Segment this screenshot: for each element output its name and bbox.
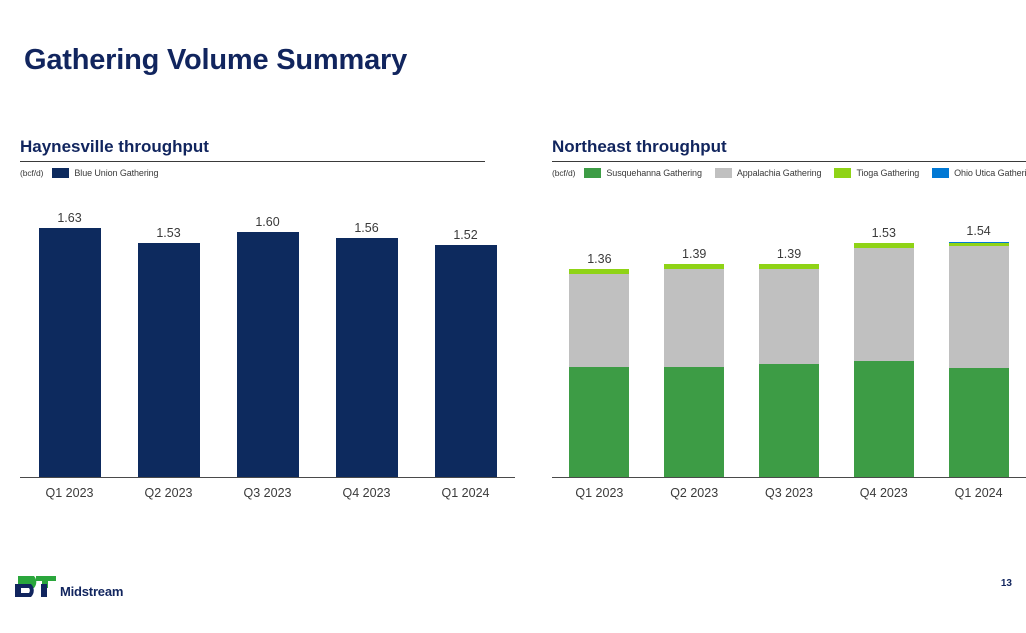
bar-segment[interactable] [854, 361, 914, 477]
x-axis-tick-label: Q3 2023 [218, 481, 317, 505]
x-axis-tick-label: Q2 2023 [647, 481, 742, 505]
page-title: Gathering Volume Summary [24, 44, 407, 77]
panel-divider-northeast [552, 161, 1026, 162]
legend-item-label: Appalachia Gathering [737, 168, 822, 178]
legend-item-label: Tioga Gathering [856, 168, 919, 178]
x-axis-labels-northeast: Q1 2023Q2 2023Q3 2023Q4 2023Q1 2024 [552, 481, 1026, 505]
legend-northeast: (bcf/d) Susquehanna Gathering Appalachia… [552, 168, 1026, 178]
bar-slot: 1.53 [119, 190, 218, 477]
x-axis-tick-label: Q1 2023 [552, 481, 647, 505]
legend-item-appalachia-gathering[interactable]: Appalachia Gathering [715, 168, 822, 178]
bar-value-label: 1.52 [453, 228, 477, 242]
panel-title-haynesville: Haynesville throughput [20, 137, 515, 157]
bar-segment[interactable] [336, 238, 398, 476]
bar-segment[interactable] [569, 274, 629, 367]
bar-segment[interactable] [664, 367, 724, 477]
panel-haynesville: Haynesville throughput (bcf/d) Blue Unio… [20, 137, 515, 178]
bar-segment[interactable] [138, 243, 200, 477]
legend-item-blue-union-gathering[interactable]: Blue Union Gathering [52, 168, 158, 178]
bar-column[interactable]: 1.53 [854, 243, 914, 477]
bar-column[interactable]: 1.36 [569, 269, 629, 477]
legend-unit-label: (bcf/d) [552, 168, 575, 178]
legend-swatch-icon [584, 168, 601, 178]
bar-segment[interactable] [949, 368, 1009, 476]
page-number: 13 [1001, 578, 1012, 589]
legend-swatch-icon [932, 168, 949, 178]
bar-slot: 1.60 [218, 190, 317, 477]
bar-group-haynesville: 1.631.531.601.561.52 [20, 190, 515, 477]
bar-segment[interactable] [949, 246, 1009, 368]
legend-item-label: Ohio Utica Gathering [954, 168, 1026, 178]
bar-slot: 1.52 [416, 190, 515, 477]
bar-segment[interactable] [237, 232, 299, 476]
x-axis-tick-label: Q2 2023 [119, 481, 218, 505]
brand-logo-wordmark: Midstream [60, 584, 123, 599]
legend-swatch-icon [715, 168, 732, 178]
bar-value-label: 1.36 [587, 252, 611, 266]
bar-segment[interactable] [39, 228, 101, 477]
bar-slot: 1.39 [742, 190, 837, 477]
panel-northeast: Northeast throughput (bcf/d) Susquehanna… [552, 137, 1026, 178]
bar-value-label: 1.53 [872, 226, 896, 240]
x-axis-tick-label: Q1 2024 [416, 481, 515, 505]
bar-value-label: 1.63 [57, 211, 81, 225]
bar-column[interactable]: 1.39 [759, 264, 819, 476]
bar-slot: 1.54 [931, 190, 1026, 477]
bar-value-label: 1.54 [966, 224, 990, 238]
panel-title-northeast: Northeast throughput [552, 137, 1026, 157]
bar-column[interactable]: 1.56 [336, 238, 398, 476]
bar-column[interactable]: 1.60 [237, 232, 299, 476]
x-axis-tick-label: Q4 2023 [836, 481, 931, 505]
bar-column[interactable]: 1.54 [949, 242, 1009, 477]
x-axis-tick-label: Q3 2023 [742, 481, 837, 505]
bar-value-label: 1.60 [255, 215, 279, 229]
legend-unit-label: (bcf/d) [20, 168, 43, 178]
bar-slot: 1.39 [647, 190, 742, 477]
x-axis-tick-label: Q1 2023 [20, 481, 119, 505]
legend-item-label: Blue Union Gathering [74, 168, 158, 178]
chart-haynesville: 1.631.531.601.561.52 [20, 190, 515, 478]
chart-northeast: 1.361.391.391.531.54 [552, 190, 1026, 478]
legend-item-label: Susquehanna Gathering [606, 168, 701, 178]
dt-midstream-logo-icon [14, 574, 58, 600]
legend-item-ohio-utica-gathering[interactable]: Ohio Utica Gathering [932, 168, 1026, 178]
bar-segment[interactable] [854, 248, 914, 361]
bar-slot: 1.63 [20, 190, 119, 477]
bar-column[interactable]: 1.39 [664, 264, 724, 476]
bar-column[interactable]: 1.53 [138, 243, 200, 477]
x-axis-tick-label: Q1 2024 [931, 481, 1026, 505]
panel-divider-haynesville [20, 161, 485, 162]
legend-swatch-icon [52, 168, 69, 178]
brand-logo: Midstream [14, 572, 123, 600]
bar-segment[interactable] [664, 269, 724, 367]
legend-item-susquehanna-gathering[interactable]: Susquehanna Gathering [584, 168, 701, 178]
legend-item-tioga-gathering[interactable]: Tioga Gathering [834, 168, 919, 178]
legend-swatch-icon [834, 168, 851, 178]
bar-value-label: 1.39 [777, 247, 801, 261]
x-axis-labels-haynesville: Q1 2023Q2 2023Q3 2023Q4 2023Q1 2024 [20, 481, 515, 505]
x-axis-line [20, 477, 515, 478]
legend-haynesville: (bcf/d) Blue Union Gathering [20, 168, 515, 178]
bar-column[interactable]: 1.52 [435, 245, 497, 477]
bar-group-northeast: 1.361.391.391.531.54 [552, 190, 1026, 477]
bar-value-label: 1.56 [354, 221, 378, 235]
x-axis-tick-label: Q4 2023 [317, 481, 416, 505]
bar-column[interactable]: 1.63 [39, 228, 101, 477]
bar-slot: 1.53 [836, 190, 931, 477]
bar-segment[interactable] [569, 367, 629, 477]
bar-segment[interactable] [435, 245, 497, 477]
x-axis-line [552, 477, 1026, 478]
bar-segment[interactable] [759, 269, 819, 364]
bar-slot: 1.56 [317, 190, 416, 477]
bar-segment[interactable] [759, 364, 819, 477]
bar-slot: 1.36 [552, 190, 647, 477]
bar-value-label: 1.39 [682, 247, 706, 261]
bar-value-label: 1.53 [156, 226, 180, 240]
